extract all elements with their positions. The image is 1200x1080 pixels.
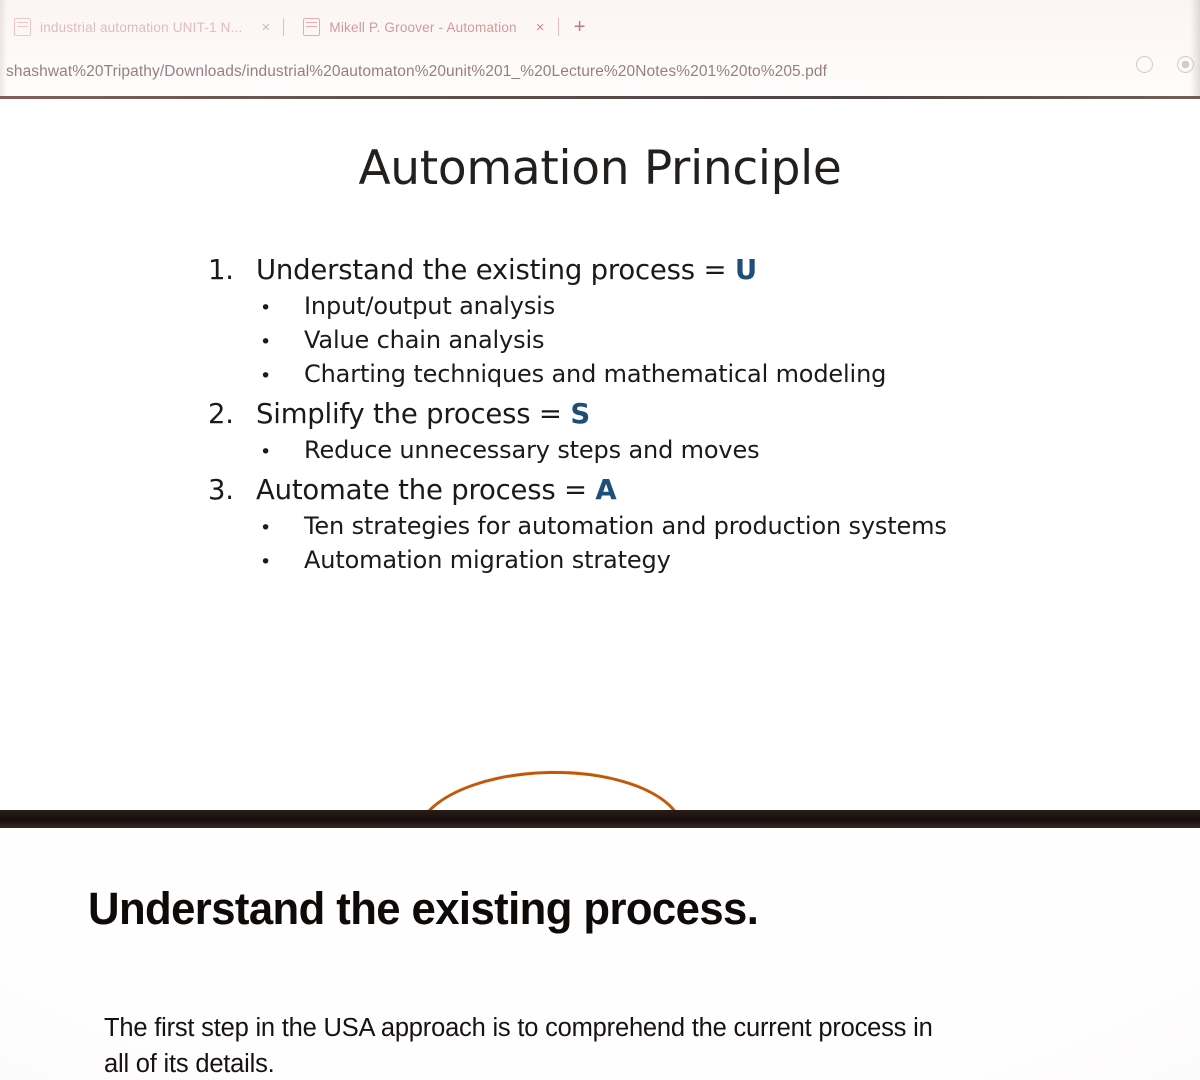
page-title: Understand the existing process. xyxy=(88,883,758,935)
slide-automation-principle: Automation Principle 1. Understand the e… xyxy=(0,99,1200,812)
slide-title: Automation Principle xyxy=(0,141,1200,196)
sub-item-label: Ten strategies for automation and produc… xyxy=(304,512,947,540)
list-item: 3. Automate the process = A xyxy=(208,474,1108,506)
browser-tab-1[interactable]: industrial automation UNIT-1 N... × xyxy=(0,10,278,44)
address-bar-icons xyxy=(1136,56,1194,73)
sub-item-label: Charting techniques and mathematical mod… xyxy=(304,360,886,388)
body-paragraph: The first step in the USA approach is to… xyxy=(104,1010,1164,1080)
pdf-file-icon xyxy=(303,18,320,36)
list-item-highlight: A xyxy=(595,474,616,506)
list-number: 2. xyxy=(208,398,256,430)
sub-list: • Reduce unnecessary steps and moves xyxy=(208,436,1108,464)
search-icon[interactable] xyxy=(1136,56,1153,73)
tab-divider xyxy=(283,18,284,36)
list-item-highlight: S xyxy=(570,398,590,430)
sub-item-label: Input/output analysis xyxy=(304,292,555,320)
sub-list: • Input/output analysis • Value chain an… xyxy=(208,292,1108,388)
list-item-text: Automate the process = A xyxy=(256,474,617,506)
list-item-label: Automate the process = xyxy=(256,474,595,506)
pdf-file-icon xyxy=(14,18,31,36)
list-item: • Ten strategies for automation and prod… xyxy=(208,512,1108,540)
browser-tab-1-title: industrial automation UNIT-1 N... xyxy=(40,20,242,35)
browser-tab-2[interactable]: Mikell P. Groover - Automation × xyxy=(289,10,552,44)
slide-understand-existing-process: Understand the existing process. The fir… xyxy=(0,828,1200,1080)
list-item: 1. Understand the existing process = U xyxy=(208,254,1108,286)
list-item: • Reduce unnecessary steps and moves xyxy=(208,436,1108,464)
sub-item-label: Reduce unnecessary steps and moves xyxy=(304,436,759,464)
new-tab-button[interactable]: + xyxy=(564,17,596,37)
bullet-icon: • xyxy=(208,299,304,318)
browser-chrome: industrial automation UNIT-1 N... × Mike… xyxy=(0,0,1200,99)
list-item-label: Simplify the process = xyxy=(256,398,570,430)
close-icon[interactable]: × xyxy=(536,20,545,35)
browser-tab-2-title: Mikell P. Groover - Automation xyxy=(329,20,516,35)
tab-divider xyxy=(558,18,559,36)
list-item-highlight: U xyxy=(735,254,757,286)
address-bar[interactable]: shashwat%20Tripathy/Downloads/industrial… xyxy=(0,52,1200,92)
list-item: 2. Simplify the process = S xyxy=(208,398,1108,430)
list-item-label: Understand the existing process = xyxy=(256,254,735,286)
list-item: • Input/output analysis xyxy=(208,292,1108,320)
list-item-text: Simplify the process = S xyxy=(256,398,590,430)
bullet-icon: • xyxy=(208,333,304,352)
bullet-icon: • xyxy=(208,553,304,572)
list-item: • Value chain analysis xyxy=(208,326,1108,354)
photographed-document-page: industrial automation UNIT-1 N... × Mike… xyxy=(0,0,1200,1080)
body-line-1: The first step in the USA approach is to… xyxy=(104,1014,933,1042)
sub-item-label: Automation migration strategy xyxy=(304,546,671,574)
sub-item-label: Value chain analysis xyxy=(304,326,544,354)
close-icon[interactable]: × xyxy=(261,20,270,35)
sub-list: • Ten strategies for automation and prod… xyxy=(208,512,1108,574)
slide-outline-list: 1. Understand the existing process = U •… xyxy=(208,254,1108,584)
list-item: • Automation migration strategy xyxy=(208,546,1108,574)
list-item: • Charting techniques and mathematical m… xyxy=(208,360,1108,388)
url-text: shashwat%20Tripathy/Downloads/industrial… xyxy=(0,63,827,81)
list-item-text: Understand the existing process = U xyxy=(256,254,757,286)
list-number: 3. xyxy=(208,474,256,506)
body-line-2: all of its details. xyxy=(104,1046,1164,1080)
bullet-icon: • xyxy=(208,367,304,386)
settings-icon[interactable] xyxy=(1177,56,1194,73)
page-separator-band xyxy=(0,810,1200,828)
bullet-icon: • xyxy=(208,519,304,538)
browser-tabstrip: industrial automation UNIT-1 N... × Mike… xyxy=(0,8,1200,46)
bullet-icon: • xyxy=(208,443,304,462)
list-number: 1. xyxy=(208,254,256,286)
